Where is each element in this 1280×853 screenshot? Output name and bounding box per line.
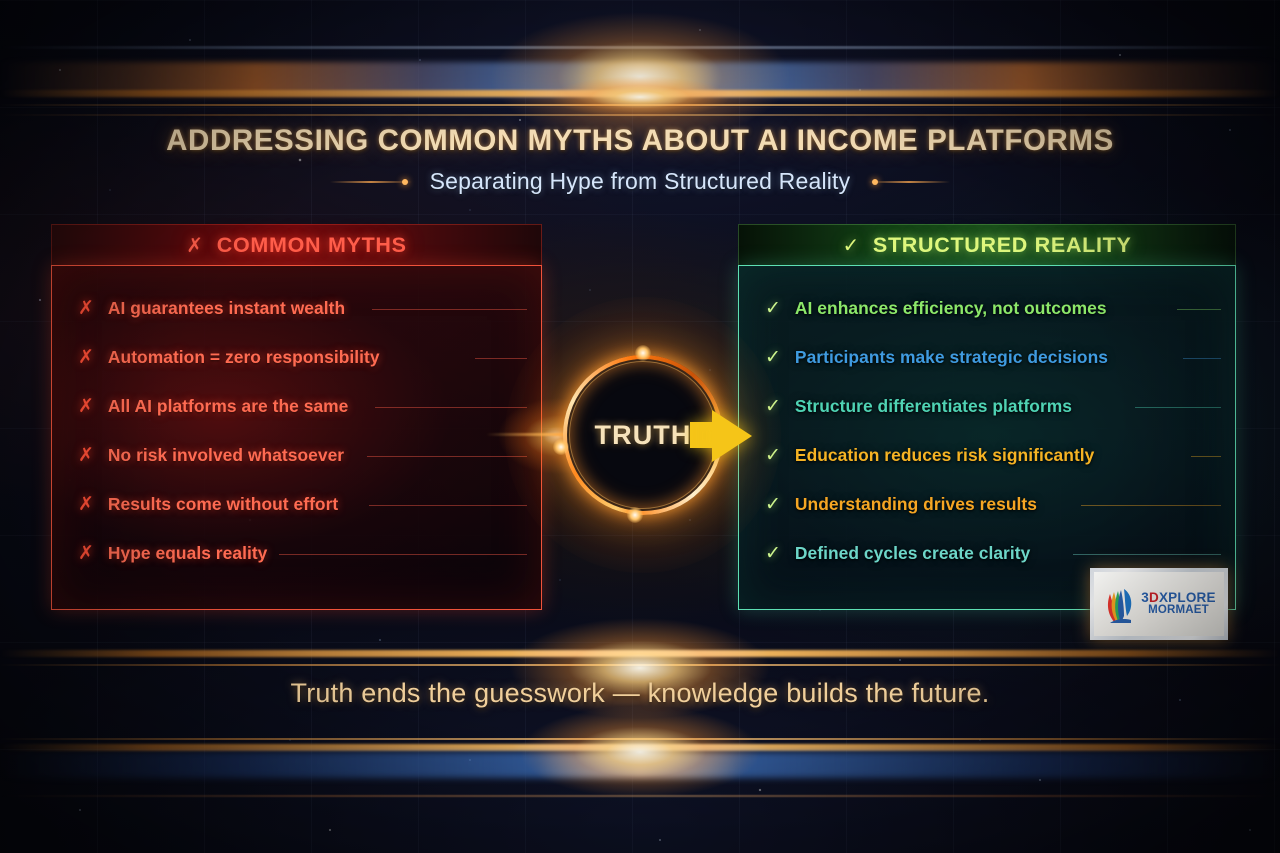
- list-item-label: AI guarantees instant wealth: [108, 298, 345, 319]
- list-item-label: Hype equals reality: [108, 543, 267, 564]
- list-item[interactable]: ✓Education reduces risk significantly: [739, 431, 1235, 480]
- list-item-rule: [1191, 456, 1221, 457]
- list-item-rule: [372, 309, 527, 310]
- cross-icon: ✗: [78, 446, 94, 465]
- logo-feather-icon: [1102, 583, 1136, 625]
- background-grid-warm-line: [0, 795, 1280, 797]
- logo-d: D: [1149, 590, 1159, 605]
- list-item[interactable]: ✗Hype equals reality: [52, 529, 541, 578]
- logo-xplore: XPLORE: [1159, 590, 1216, 605]
- check-icon: ✓: [842, 233, 859, 258]
- list-item-label: Participants make strategic decisions: [795, 347, 1108, 368]
- check-icon: ✓: [765, 495, 781, 514]
- list-item-rule: [1081, 505, 1221, 506]
- myths-list: ✗AI guarantees instant wealth✗Automation…: [51, 265, 542, 610]
- logo-wordmark: 3DXPLORE MORMAET: [1141, 591, 1215, 616]
- structured-reality-panel: ✓ STRUCTURED REALITY ✓AI enhances effici…: [738, 224, 1236, 610]
- list-item[interactable]: ✓Participants make strategic decisions: [739, 333, 1235, 382]
- list-item-label: Structure differentiates platforms: [795, 396, 1072, 417]
- list-item-label: Automation = zero responsibility: [108, 347, 380, 368]
- check-icon: ✓: [765, 544, 781, 563]
- list-item[interactable]: ✗Results come without effort: [52, 480, 541, 529]
- cross-icon: ✗: [78, 348, 94, 367]
- brand-logo: 3DXPLORE MORMAET: [1090, 568, 1228, 640]
- footer-tagline: Truth ends the guesswork — knowledge bui…: [0, 678, 1280, 709]
- list-item[interactable]: ✓Understanding drives results: [739, 480, 1235, 529]
- list-item-rule: [475, 358, 527, 359]
- list-item-label: Defined cycles create clarity: [795, 543, 1030, 564]
- logo-line-1: 3DXPLORE: [1141, 591, 1215, 605]
- reality-list: ✓AI enhances efficiency, not outcomes✓Pa…: [738, 265, 1236, 610]
- list-item-rule: [375, 407, 527, 408]
- list-item-label: No risk involved whatsoever: [108, 445, 344, 466]
- subtitle-dash-left: [330, 181, 412, 183]
- logo-3: 3: [1141, 590, 1149, 605]
- list-item[interactable]: ✓Structure differentiates platforms: [739, 382, 1235, 431]
- common-myths-panel: ✗ COMMON MYTHS ✗AI guarantees instant we…: [51, 224, 542, 610]
- myths-panel-title: COMMON MYTHS: [217, 233, 407, 258]
- brand-logo-inner: 3DXPLORE MORMAET: [1094, 572, 1224, 636]
- list-item-rule: [279, 554, 527, 555]
- list-item-label: Results come without effort: [108, 494, 338, 515]
- list-item[interactable]: ✗No risk involved whatsoever: [52, 431, 541, 480]
- list-item[interactable]: ✗All AI platforms are the same: [52, 382, 541, 431]
- list-item-rule: [1183, 358, 1221, 359]
- page-title: ADDRESSING COMMON MYTHS ABOUT AI INCOME …: [0, 124, 1280, 158]
- list-item-rule: [1073, 554, 1221, 555]
- reality-panel-title: STRUCTURED REALITY: [873, 233, 1132, 258]
- myths-panel-header: ✗ COMMON MYTHS: [51, 224, 542, 265]
- list-item-rule: [369, 505, 527, 506]
- top-light-band: [0, 46, 1280, 120]
- infographic-canvas: ADDRESSING COMMON MYTHS ABOUT AI INCOME …: [0, 0, 1280, 853]
- list-item[interactable]: ✗Automation = zero responsibility: [52, 333, 541, 382]
- list-item-rule: [1135, 407, 1221, 408]
- logo-line-2: MORMAET: [1148, 605, 1209, 617]
- cross-icon: ✗: [78, 495, 94, 514]
- page-subtitle: Separating Hype from Structured Reality: [430, 168, 851, 195]
- cross-icon: ✗: [78, 397, 94, 416]
- subtitle-dash-right: [868, 181, 950, 183]
- list-item[interactable]: ✗AI guarantees instant wealth: [52, 284, 541, 333]
- cross-icon: ✗: [78, 299, 94, 318]
- list-item-rule: [1177, 309, 1221, 310]
- cross-icon: ✗: [78, 544, 94, 563]
- check-icon: ✓: [765, 299, 781, 318]
- reality-panel-header: ✓ STRUCTURED REALITY: [738, 224, 1236, 265]
- subtitle-row: Separating Hype from Structured Reality: [0, 168, 1280, 195]
- list-item-rule: [367, 456, 527, 457]
- cross-icon: ✗: [186, 233, 203, 258]
- arrow-right-icon: [712, 410, 752, 462]
- list-item-label: Education reduces risk significantly: [795, 445, 1094, 466]
- list-item-label: Understanding drives results: [795, 494, 1037, 515]
- list-item-label: All AI platforms are the same: [108, 396, 349, 417]
- check-icon: ✓: [765, 348, 781, 367]
- list-item-label: AI enhances efficiency, not outcomes: [795, 298, 1107, 319]
- list-item[interactable]: ✓AI enhances efficiency, not outcomes: [739, 284, 1235, 333]
